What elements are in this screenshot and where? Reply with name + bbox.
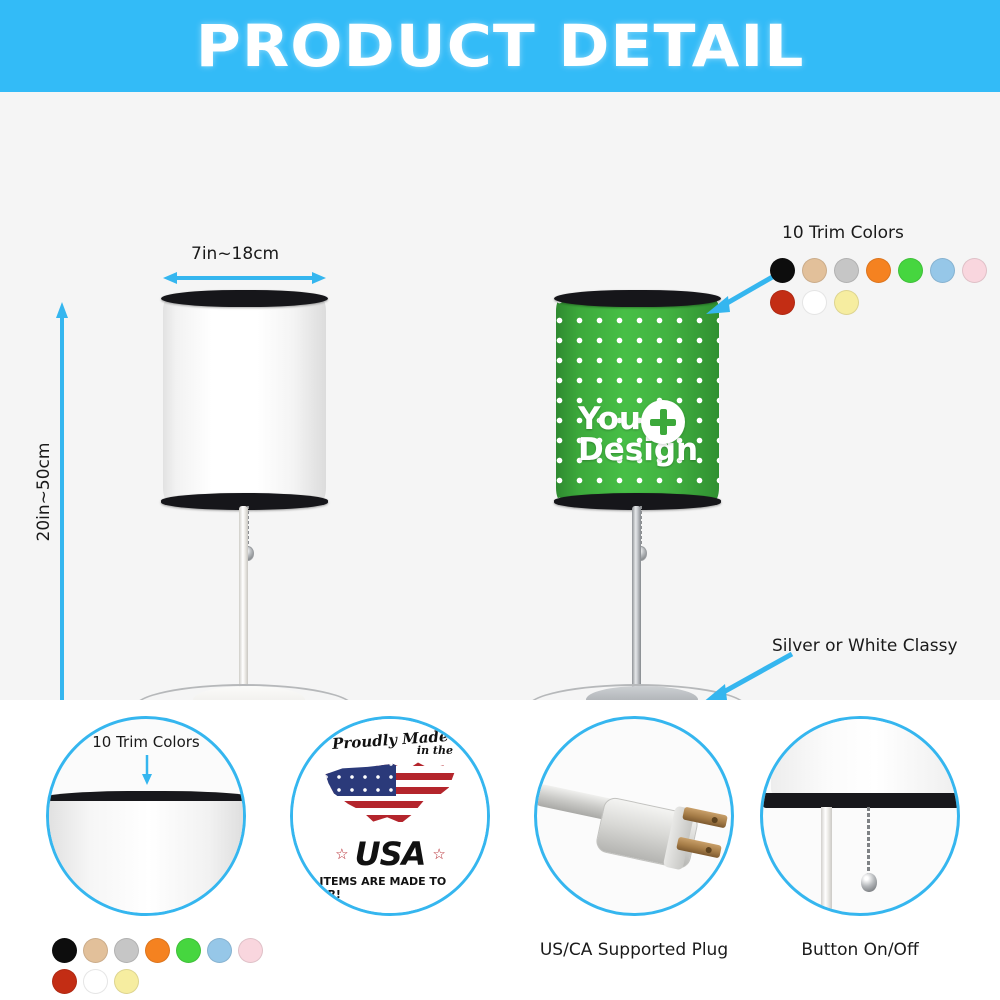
trim-swatch-black[interactable] <box>770 258 795 283</box>
height-dimension-label: 20in~50cm <box>34 432 54 552</box>
design-placeholder-text: Your Design <box>556 404 719 467</box>
width-dimension-label: 7in~18cm <box>188 244 282 264</box>
trim-swatch-pink[interactable] <box>962 258 987 283</box>
shade-trim-top <box>554 290 721 307</box>
shade-surface: Your Design <box>556 297 719 502</box>
page-title: PRODUCT DETAIL <box>196 12 805 80</box>
power-plug-circle <box>534 716 734 916</box>
trim-swatch-red[interactable] <box>770 290 795 315</box>
trim-swatch-orange[interactable] <box>145 938 170 963</box>
trim-swatch-white[interactable] <box>83 969 108 994</box>
white-lamp-shade <box>163 297 326 502</box>
trim-colors-down-arrow <box>141 755 153 785</box>
pull-chain-ball[interactable] <box>861 873 877 892</box>
flag-canton <box>321 759 396 796</box>
silver-or-white-arrow <box>694 648 799 708</box>
usa-map-flag-icon <box>320 758 460 832</box>
plus-icon <box>641 400 685 444</box>
trim-swatch-gray[interactable] <box>114 938 139 963</box>
trim-swatch-tan[interactable] <box>802 258 827 283</box>
silver-or-white-label: Silver or White Classy <box>772 636 958 656</box>
lamp-pole <box>632 506 641 698</box>
trim-swatch-white[interactable] <box>802 290 827 315</box>
usa-badge: Proudly Made in the ☆ USA ☆ ALL ITEMS AR… <box>293 719 487 913</box>
shade-surface <box>771 716 960 795</box>
page-header: PRODUCT DETAIL <box>0 0 1000 92</box>
trim-swatch-black[interactable] <box>52 938 77 963</box>
trim-swatch-light-blue[interactable] <box>207 938 232 963</box>
usa-badge-circle: Proudly Made in the ☆ USA ☆ ALL ITEMS AR… <box>290 716 490 916</box>
shade-surface <box>163 297 326 502</box>
main-showcase: 7in~18cm 20in~50cm <box>0 92 1000 700</box>
shade-surface <box>46 801 246 916</box>
lamp-pole <box>821 807 832 916</box>
trim-swatch-pink[interactable] <box>238 938 263 963</box>
usa-text: USA <box>355 835 426 873</box>
trim-swatch-orange[interactable] <box>866 258 891 283</box>
feature-power-plug: US/CA Supported Plug <box>514 716 754 916</box>
trim-swatch-green[interactable] <box>898 258 923 283</box>
trim-swatch-gray[interactable] <box>834 258 859 283</box>
shade-trim-ring <box>763 793 960 808</box>
feature-made-in-usa: Proudly Made in the ☆ USA ☆ ALL ITEMS AR… <box>270 716 510 916</box>
usa-subtitle: ALL ITEMS ARE MADE TO ORDER! <box>293 875 487 901</box>
width-dimension-arrow <box>163 272 326 284</box>
trim-colors-inner-label: 10 Trim Colors <box>49 733 243 751</box>
height-dimension-arrow <box>56 302 68 722</box>
pull-switch-circle <box>760 716 960 916</box>
trim-swatch-light-blue[interactable] <box>930 258 955 283</box>
trim-swatch-green[interactable] <box>176 938 201 963</box>
design-line-2: Design <box>578 435 719 467</box>
feature-trim-colors: 10 Trim Colors <box>26 716 266 916</box>
trim-colors-circle: 10 Trim Colors <box>46 716 246 916</box>
trim-swatch-yellow[interactable] <box>114 969 139 994</box>
trim-color-swatches-top <box>770 258 1000 315</box>
pull-chain[interactable] <box>867 807 870 877</box>
shade-trim-top <box>161 290 328 307</box>
star-icon-right: ☆ <box>432 845 444 863</box>
trim-swatch-yellow[interactable] <box>834 290 859 315</box>
feature-pull-switch: Button On/Off <box>740 716 980 916</box>
trim-color-swatches-bottom <box>52 938 284 994</box>
feature-caption: US/CA Supported Plug <box>514 940 754 960</box>
trim-swatch-tan[interactable] <box>83 938 108 963</box>
trim-colors-label: 10 Trim Colors <box>782 223 904 243</box>
feature-caption: Button On/Off <box>740 940 980 960</box>
product-detail-page: PRODUCT DETAIL 7in~18cm 20in~50cm <box>0 0 1000 1000</box>
trim-swatch-red[interactable] <box>52 969 77 994</box>
plug-icon <box>537 719 731 913</box>
star-icon-left: ☆ <box>335 845 347 863</box>
usa-word: ☆ USA ☆ <box>335 835 445 873</box>
lamp-pole <box>239 506 248 698</box>
green-lamp-shade: Your Design <box>556 297 719 502</box>
